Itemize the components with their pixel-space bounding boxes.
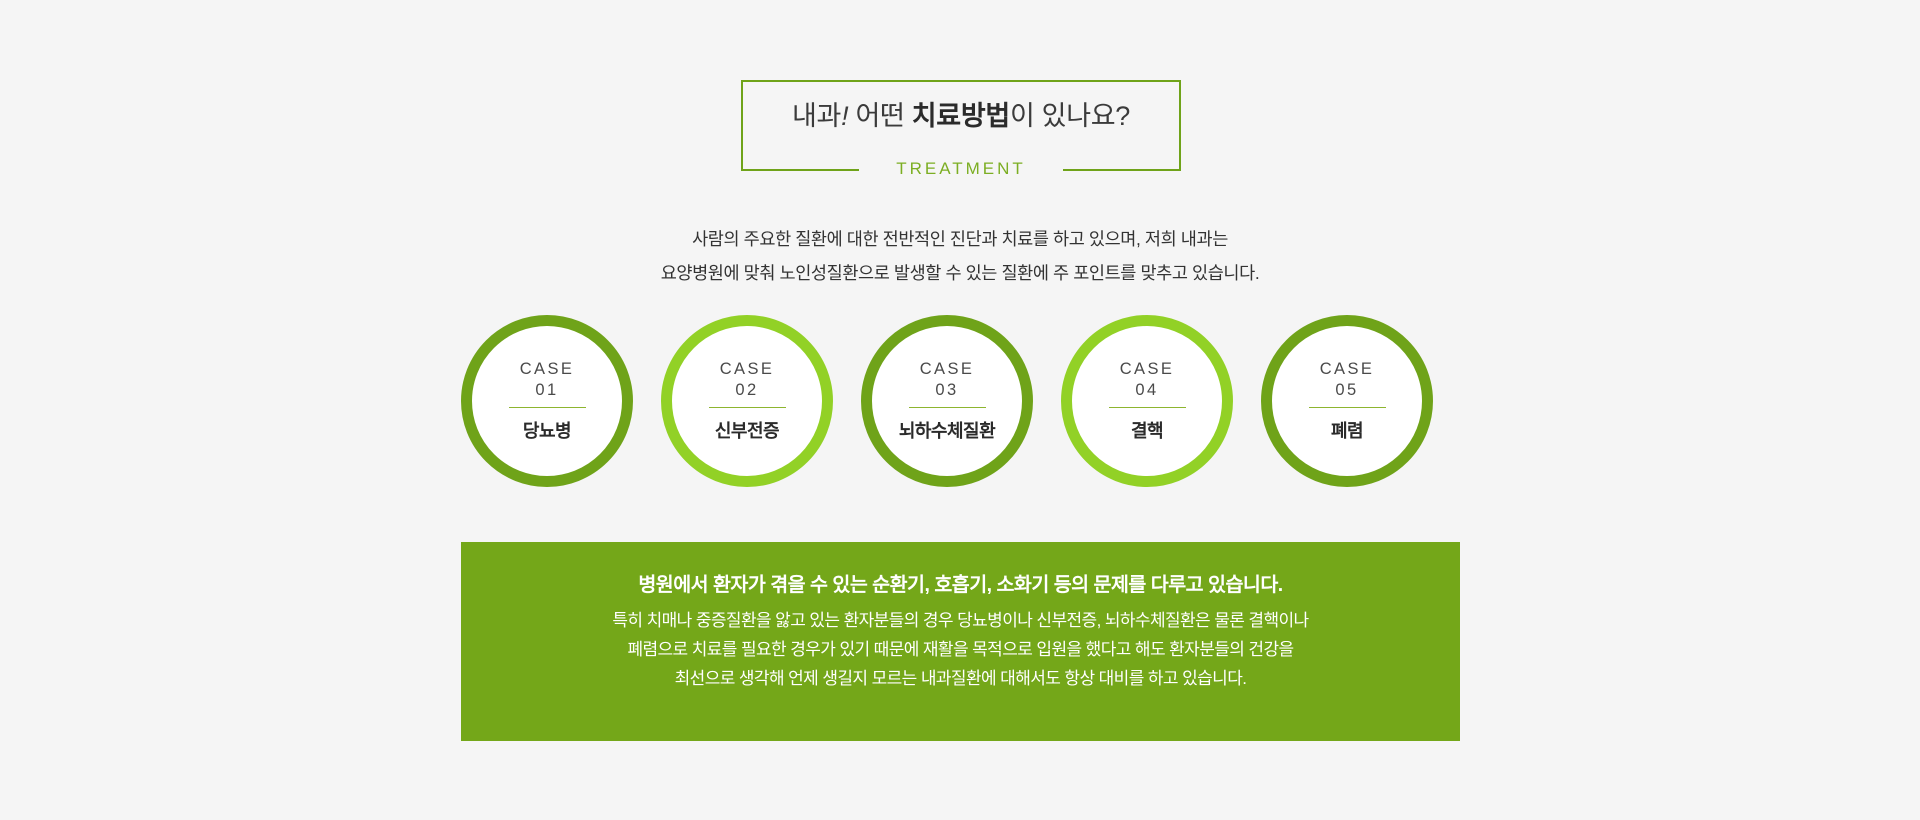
case-circle-02[interactable]: CASE 02 신부전증: [661, 315, 833, 487]
intro-line-2: 요양병원에 맞춰 노인성질환으로 발생할 수 있는 질환에 주 포인트를 맞추고…: [0, 256, 1920, 290]
case-circle-list: CASE 01 당뇨병 CASE 02 신부전증 CASE 03 뇌하수체질환 …: [461, 315, 1461, 490]
case-divider-03: [909, 407, 986, 408]
page-title-block: 내과! 어떤 치료방법이 있나요? TREATMENT: [741, 80, 1181, 171]
case-name-05: 폐렴: [1331, 417, 1363, 443]
summary-headline: 병원에서 환자가 겪을 수 있는 순환기, 호흡기, 소화기 등의 문제를 다루…: [461, 570, 1460, 600]
case-number-03: 03: [935, 380, 958, 407]
page-title: 내과! 어떤 치료방법이 있나요?: [741, 94, 1181, 133]
summary-panel: 병원에서 환자가 겪을 수 있는 순환기, 호흡기, 소화기 등의 문제를 다루…: [461, 542, 1460, 741]
page-title-suffix: 이 있나요?: [1010, 101, 1130, 131]
case-label-03: CASE: [920, 359, 975, 380]
case-label-02: CASE: [720, 359, 775, 380]
case-circle-05[interactable]: CASE 05 폐렴: [1261, 315, 1433, 487]
summary-body-line-1: 특히 치매나 중증질환을 앓고 있는 환자분들의 경우 당뇨병이나 신부전증, …: [461, 606, 1460, 635]
intro-paragraph: 사람의 주요한 질환에 대한 전반적인 진단과 치료를 하고 있으며, 저희 내…: [0, 222, 1920, 290]
case-name-03: 뇌하수체질환: [899, 417, 995, 443]
page-title-prefix: 내과: [792, 101, 841, 131]
summary-body-line-2: 폐렴으로 치료를 필요한 경우가 있기 때문에 재활을 목적으로 입원을 했다고…: [461, 635, 1460, 664]
case-label-01: CASE: [520, 359, 575, 380]
treatment-page: 내과! 어떤 치료방법이 있나요? TREATMENT 사람의 주요한 질환에 …: [0, 0, 1920, 820]
case-number-05: 05: [1335, 380, 1358, 407]
case-circle-01[interactable]: CASE 01 당뇨병: [461, 315, 633, 487]
summary-body: 특히 치매나 중증질환을 앓고 있는 환자분들의 경우 당뇨병이나 신부전증, …: [461, 606, 1460, 693]
case-circle-03[interactable]: CASE 03 뇌하수체질환: [861, 315, 1033, 487]
case-divider-04: [1109, 407, 1186, 408]
case-name-01: 당뇨병: [523, 417, 571, 443]
case-divider-01: [509, 407, 586, 408]
case-label-05: CASE: [1320, 359, 1375, 380]
page-title-mid: 어떤: [848, 101, 911, 131]
case-divider-02: [709, 407, 786, 408]
case-name-02: 신부전증: [715, 417, 779, 443]
case-name-04: 결핵: [1131, 417, 1163, 443]
case-number-01: 01: [535, 380, 558, 407]
case-divider-05: [1309, 407, 1386, 408]
case-label-04: CASE: [1120, 359, 1175, 380]
title-frame-top-border: [741, 80, 1181, 82]
intro-line-1: 사람의 주요한 질환에 대한 전반적인 진단과 치료를 하고 있으며, 저희 내…: [0, 222, 1920, 256]
case-circle-04[interactable]: CASE 04 결핵: [1061, 315, 1233, 487]
case-number-04: 04: [1135, 380, 1158, 407]
page-subtitle: TREATMENT: [741, 159, 1181, 179]
summary-body-line-3: 최선으로 생각해 언제 생길지 모르는 내과질환에 대해서도 항상 대비를 하고…: [461, 664, 1460, 693]
page-title-emphasis: 치료방법: [912, 101, 1010, 131]
case-number-02: 02: [735, 380, 758, 407]
